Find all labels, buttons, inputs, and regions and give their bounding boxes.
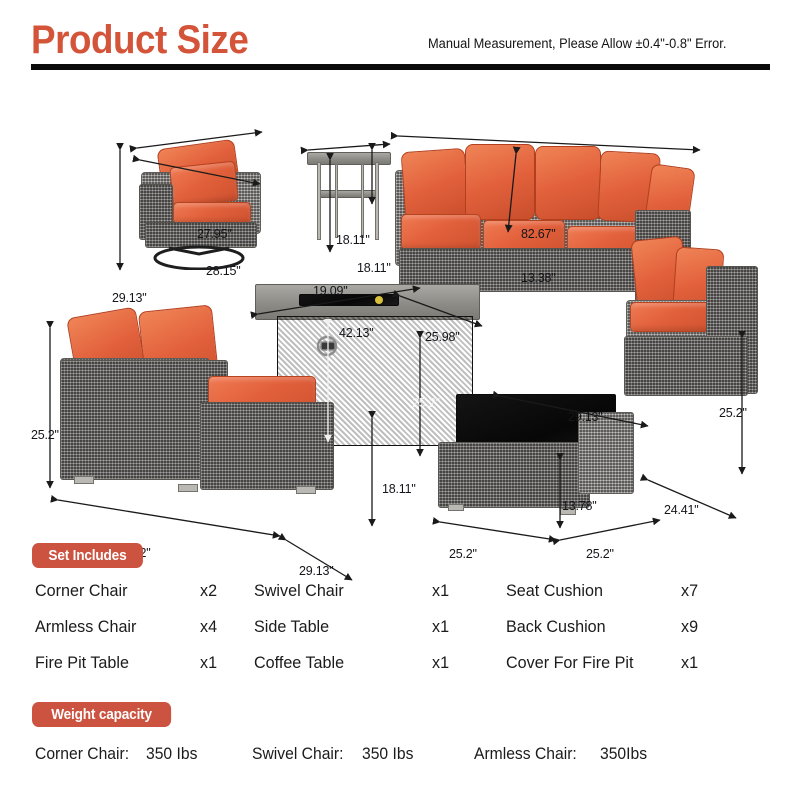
dimension-coffee-table-width: 25.2" [449, 547, 477, 561]
dimension-loveseat-depth: 29.13" [299, 564, 334, 578]
dimension-sofa-length: 82.67" [521, 227, 556, 241]
product-size-infographic: Product Size Manual Measurement, Please … [0, 0, 800, 800]
weight-capacity-label: Armless Chair: [474, 745, 577, 764]
dimension-fire-pit-table-width: 25.98" [425, 330, 460, 344]
weight-capacity-value: 350 Ibs [362, 745, 413, 764]
set-includes-label: Back Cushion [506, 617, 606, 637]
set-includes-qty: x1 [200, 653, 217, 673]
dimension-side-table-height: 19.09" [313, 284, 348, 298]
dimension-seat-height: 18.11" [382, 482, 416, 496]
dimension-side-table-top-depth: 18.11" [357, 261, 391, 275]
page-title: Product Size [31, 18, 248, 63]
set-includes-label: Armless Chair [35, 617, 136, 637]
measurement-disclaimer: Manual Measurement, Please Allow ±0.4"-0… [428, 36, 726, 51]
header: Product Size Manual Measurement, Please … [0, 0, 800, 80]
set-includes-qty: x7 [681, 581, 698, 601]
dimension-fire-pit-table-length: 42.13" [339, 326, 374, 340]
set-includes-qty: x2 [200, 581, 217, 601]
weight-capacity-label: Corner Chair: [35, 745, 129, 764]
weight-capacity-value: 350 Ibs [146, 745, 197, 764]
set-includes-label: Corner Chair [35, 581, 127, 601]
dimension-coffee-table-height: 13.78" [562, 499, 597, 513]
dimension-right-chair-depth: 24.41" [664, 503, 699, 517]
dimension-swivel-chair-height: 29.13" [112, 291, 147, 305]
set-includes-label: Swivel Chair [254, 581, 344, 601]
set-includes-qty: x1 [432, 617, 449, 637]
set-includes-label: Coffee Table [254, 653, 344, 673]
set-includes-qty: x1 [432, 581, 449, 601]
dimension-right-chair-seat-depth: 29.13" [568, 410, 603, 424]
set-includes-qty: x1 [681, 653, 698, 673]
set-includes-badge: Set Includes [32, 543, 143, 568]
furniture-diagram: 27.95"28.15"29.13"18.11"18.11"19.09"82.6… [0, 88, 800, 518]
dimension-right-chair-height: 25.2" [719, 406, 747, 420]
dimension-coffee-table-depth: 25.2" [586, 547, 614, 561]
header-divider [31, 64, 770, 70]
dimension-corner-chair-height: 25.2" [31, 428, 59, 442]
dimension-swivel-chair-width: 27.95" [197, 227, 232, 241]
set-includes-label: Side Table [254, 617, 329, 637]
set-includes-qty: x1 [432, 653, 449, 673]
weight-capacity-value: 350Ibs [600, 745, 647, 764]
set-includes-label: Cover For Fire Pit [506, 653, 633, 673]
set-includes-label: Seat Cushion [506, 581, 603, 601]
set-includes-qty: x9 [681, 617, 698, 637]
dimension-fire-pit-table-height: 25.2" [412, 396, 440, 410]
dimension-side-table-width: 18.11" [336, 233, 370, 247]
set-includes-qty: x4 [200, 617, 217, 637]
weight-capacity-badge: Weight capacity [32, 702, 171, 727]
weight-capacity-label: Swivel Chair: [252, 745, 343, 764]
dimension-swivel-chair-depth: 28.15" [206, 264, 241, 278]
set-includes-label: Fire Pit Table [35, 653, 129, 673]
dimension-back-cushion-height: 13.38" [521, 271, 556, 285]
